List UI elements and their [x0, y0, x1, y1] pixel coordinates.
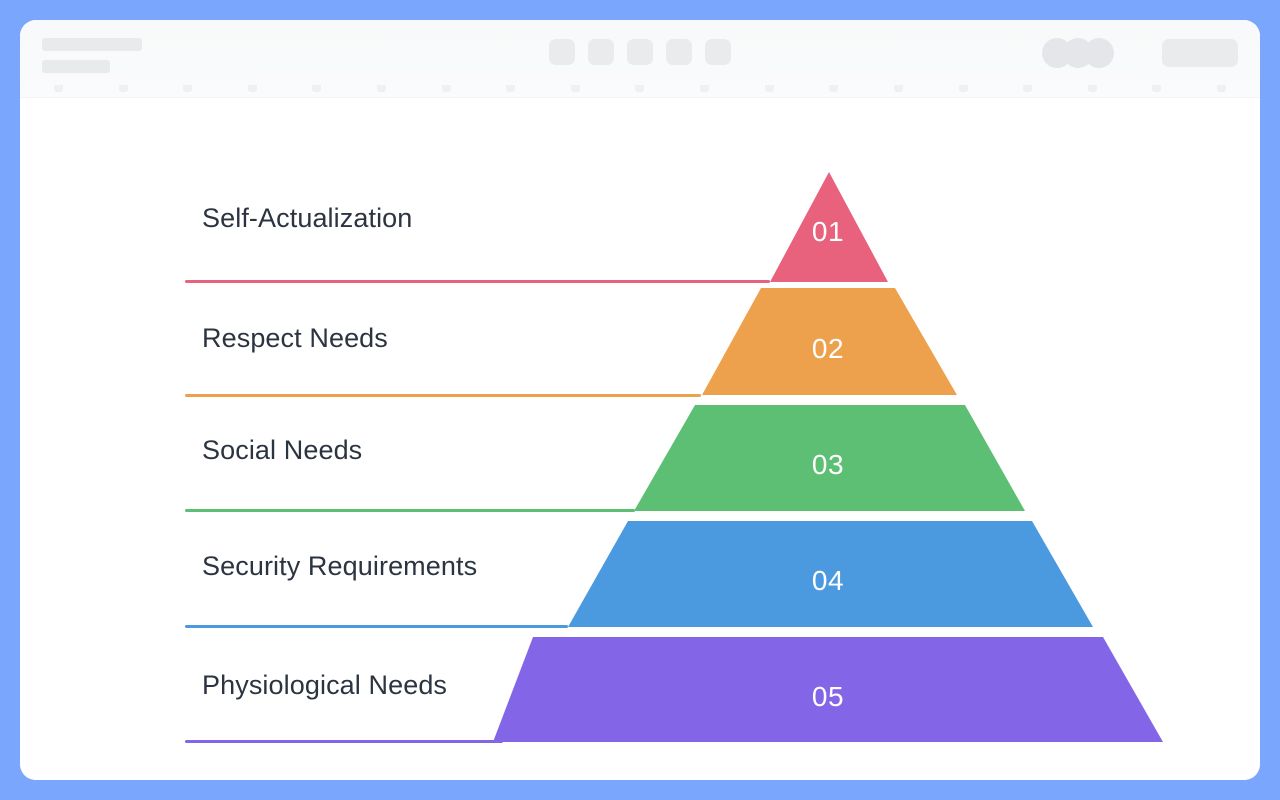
pyramid-label-01: Self-Actualization	[202, 205, 412, 232]
browser-window-card: Self-Actualization01Respect Needs02Socia…	[20, 20, 1260, 780]
pyramid-divider-02	[185, 394, 701, 397]
toolbar-action-button[interactable]	[1162, 39, 1238, 67]
toolbar-tick-dot	[959, 85, 968, 92]
toolbar-tick-dot	[1023, 85, 1032, 92]
toolbar-right-group	[1042, 38, 1238, 68]
toolbar-tick-dot	[506, 85, 515, 92]
toolbar-button-2[interactable]	[588, 39, 614, 65]
toolbar-tick-dot	[183, 85, 192, 92]
toolbar-tick-dot	[1152, 85, 1161, 92]
browser-toolbar	[20, 20, 1260, 98]
toolbar-tick-dot	[377, 85, 386, 92]
avatar-group[interactable]	[1042, 38, 1114, 68]
pyramid-divider-04	[185, 625, 568, 628]
pyramid-divider-03	[185, 509, 635, 512]
toolbar-placeholder-group	[42, 38, 142, 73]
pyramid-label-04: Security Requirements	[202, 553, 477, 580]
toolbar-tick-dot	[54, 85, 63, 92]
pyramid-number-03: 03	[812, 451, 844, 479]
toolbar-center-button-group	[549, 39, 731, 65]
pyramid-divider-05	[185, 740, 503, 743]
toolbar-tick-dot	[765, 85, 774, 92]
avatar-3[interactable]	[1084, 38, 1114, 68]
toolbar-tick-dot	[571, 85, 580, 92]
toolbar-tick-strip	[20, 85, 1260, 95]
pyramid-number-05: 05	[812, 683, 844, 711]
toolbar-tick-dot	[700, 85, 709, 92]
toolbar-tick-dot	[312, 85, 321, 92]
pyramid-divider-01	[185, 280, 770, 283]
toolbar-tick-dot	[1217, 85, 1226, 92]
pyramid-label-02: Respect Needs	[202, 325, 388, 352]
title-placeholder-bar	[42, 38, 142, 51]
toolbar-tick-dot	[248, 85, 257, 92]
toolbar-button-4[interactable]	[666, 39, 692, 65]
toolbar-tick-dot	[635, 85, 644, 92]
pyramid-number-02: 02	[812, 335, 844, 363]
pyramid-label-05: Physiological Needs	[202, 672, 447, 699]
pyramid-number-01: 01	[812, 218, 844, 246]
subtitle-placeholder-bar	[42, 60, 110, 73]
toolbar-tick-dot	[442, 85, 451, 92]
toolbar-tick-dot	[1088, 85, 1097, 92]
toolbar-tick-dot	[894, 85, 903, 92]
pyramid-number-04: 04	[812, 567, 844, 595]
toolbar-tick-dot	[119, 85, 128, 92]
toolbar-tick-dot	[829, 85, 838, 92]
toolbar-button-3[interactable]	[627, 39, 653, 65]
pyramid-chart: Self-Actualization01Respect Needs02Socia…	[20, 98, 1260, 780]
app-frame: Self-Actualization01Respect Needs02Socia…	[0, 0, 1280, 800]
pyramid-label-03: Social Needs	[202, 437, 362, 464]
toolbar-button-5[interactable]	[705, 39, 731, 65]
toolbar-button-1[interactable]	[549, 39, 575, 65]
